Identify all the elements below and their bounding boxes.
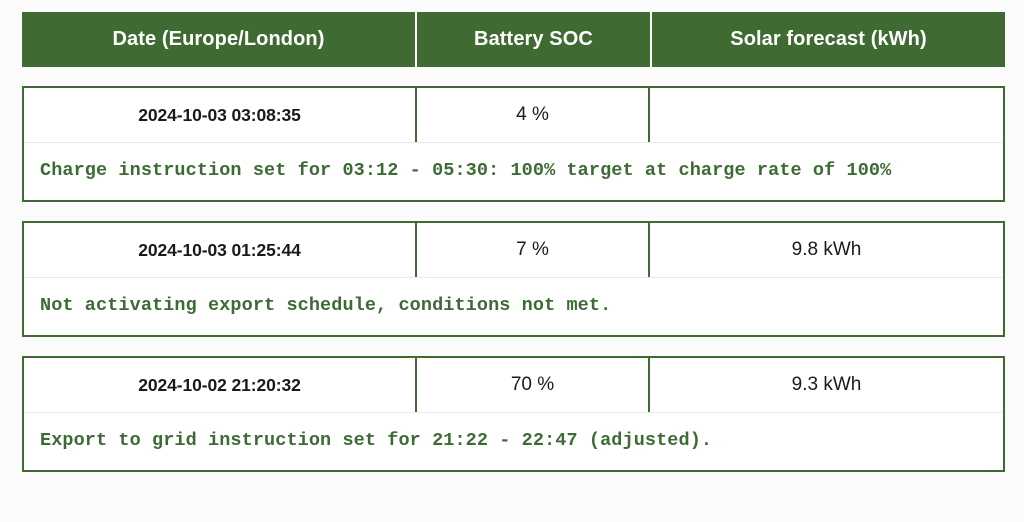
table-row: 2024-10-03 03:08:35 4 % Charge instructi… (22, 86, 1005, 202)
cell-date: 2024-10-03 03:08:35 (24, 88, 415, 142)
row-message: Export to grid instruction set for 21:22… (24, 413, 1003, 470)
table-row-values: 2024-10-02 21:20:32 70 % 9.3 kWh (24, 358, 1003, 413)
cell-solar-forecast: 9.8 kWh (648, 223, 1003, 277)
cell-battery-soc: 70 % (415, 358, 648, 412)
column-header-battery-soc: Battery SOC (415, 12, 650, 67)
row-message: Not activating export schedule, conditio… (24, 278, 1003, 335)
battery-schedule-log-page: Date (Europe/London) Battery SOC Solar f… (0, 0, 1024, 522)
column-header-date: Date (Europe/London) (22, 12, 415, 67)
table-row-values: 2024-10-03 01:25:44 7 % 9.8 kWh (24, 223, 1003, 278)
cell-battery-soc: 4 % (415, 88, 648, 142)
column-header-solar-forecast: Solar forecast (kWh) (650, 12, 1005, 67)
cell-date: 2024-10-03 01:25:44 (24, 223, 415, 277)
cell-date: 2024-10-02 21:20:32 (24, 358, 415, 412)
table-row: 2024-10-03 01:25:44 7 % 9.8 kWh Not acti… (22, 221, 1005, 337)
table-row: 2024-10-02 21:20:32 70 % 9.3 kWh Export … (22, 356, 1005, 472)
cell-battery-soc: 7 % (415, 223, 648, 277)
cell-solar-forecast (648, 88, 1003, 142)
row-message: Charge instruction set for 03:12 - 05:30… (24, 143, 1003, 200)
table-header-row: Date (Europe/London) Battery SOC Solar f… (22, 12, 1005, 67)
cell-solar-forecast: 9.3 kWh (648, 358, 1003, 412)
table-row-values: 2024-10-03 03:08:35 4 % (24, 88, 1003, 143)
